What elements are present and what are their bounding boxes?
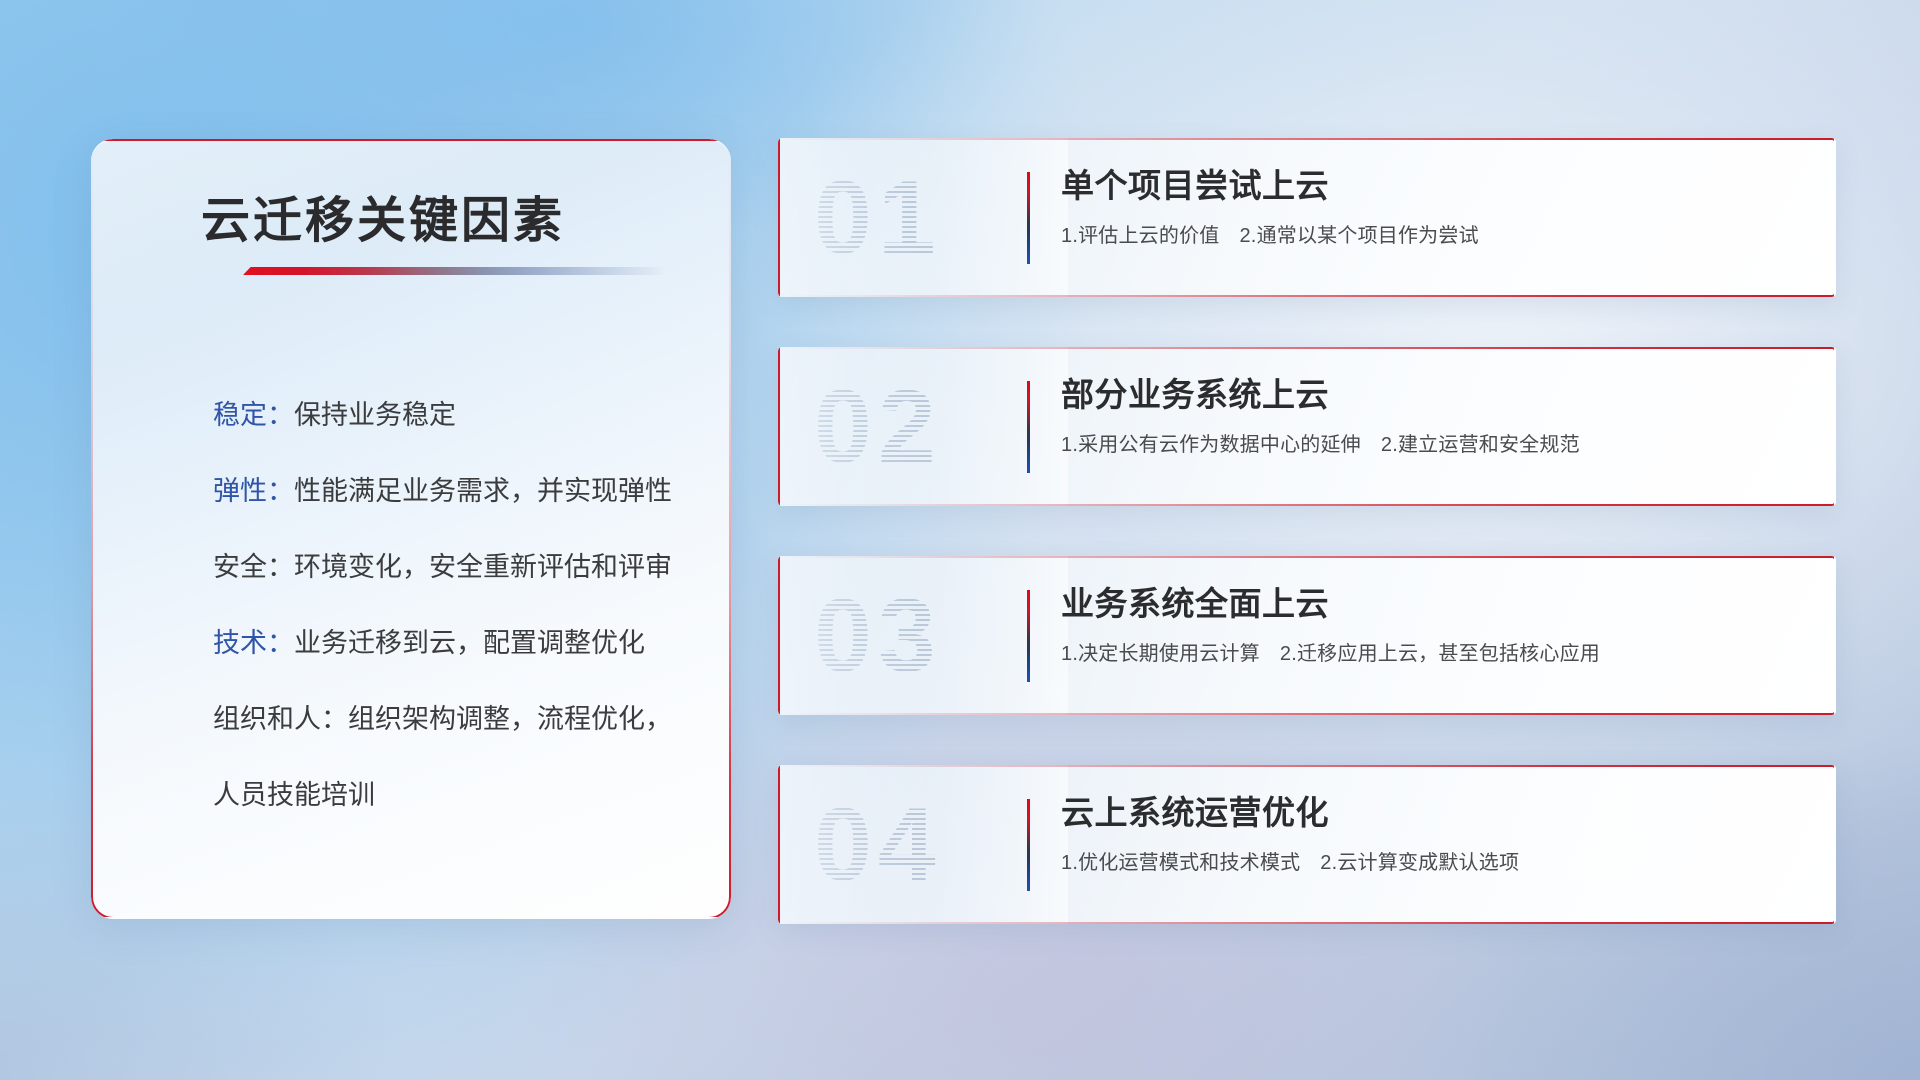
key-factor-row: 稳定：保持业务稳定 (213, 377, 701, 453)
key-factor-value: 性能满足业务需求，并实现弹性 (294, 476, 672, 506)
stage-card[interactable]: 02部分业务系统上云1.采用公有云作为数据中心的延伸2.建立运营和安全规范 (778, 347, 1836, 506)
stage-number: 01 (814, 166, 942, 270)
stage-card[interactable]: 03业务系统全面上云1.决定长期使用云计算2.迁移应用上云，甚至包括核心应用 (778, 556, 1836, 715)
stage-description-item-1: 1.决定长期使用云计算 (1061, 643, 1260, 665)
stage-description-item-1: 1.优化运营模式和技术模式 (1061, 852, 1300, 874)
key-factor-label: 稳定： (213, 400, 294, 430)
stage-divider-bar (1027, 590, 1030, 682)
stage-description-item-1: 1.采用公有云作为数据中心的延伸 (1061, 434, 1361, 456)
key-factor-label: 安全： (213, 552, 294, 582)
stage-card-body: 业务系统全面上云1.决定长期使用云计算2.迁移应用上云，甚至包括核心应用 (1061, 583, 1812, 666)
stage-description: 1.决定长期使用云计算2.迁移应用上云，甚至包括核心应用 (1061, 637, 1812, 666)
key-factor-row: 人员技能培训 (213, 757, 701, 833)
key-factor-value: 人员技能培训 (213, 780, 375, 810)
stage-description-item-2: 2.迁移应用上云，甚至包括核心应用 (1280, 643, 1600, 665)
key-factor-label: 技术： (213, 628, 294, 658)
stage-card[interactable]: 01单个项目尝试上云1.评估上云的价值2.通常以某个项目作为尝试 (778, 138, 1836, 297)
stage-description: 1.评估上云的价值2.通常以某个项目作为尝试 (1061, 219, 1812, 248)
stage-divider-bar (1027, 799, 1030, 891)
panel-title: 云迁移关键因素 (201, 181, 565, 252)
stage-description-item-2: 2.建立运营和安全规范 (1381, 434, 1580, 456)
stage-description-item-2: 2.通常以某个项目作为尝试 (1239, 225, 1478, 247)
stage-divider-bar (1027, 381, 1030, 473)
stage-description: 1.采用公有云作为数据中心的延伸2.建立运营和安全规范 (1061, 428, 1812, 457)
key-factor-value: 组织架构调整，流程优化， (348, 704, 672, 734)
slide-stage: 云迁移关键因素 稳定：保持业务稳定弹性：性能满足业务需求，并实现弹性安全：环境变… (0, 0, 1920, 1080)
key-factor-value: 环境变化，安全重新评估和评审 (294, 552, 672, 582)
stage-divider-bar (1027, 172, 1030, 264)
title-underline-rule (243, 267, 667, 275)
stage-description-item-2: 2.云计算变成默认选项 (1320, 852, 1519, 874)
key-factor-row: 组织和人：组织架构调整，流程优化， (213, 681, 701, 757)
key-factor-row: 技术：业务迁移到云，配置调整优化 (213, 605, 701, 681)
stage-description: 1.优化运营模式和技术模式2.云计算变成默认选项 (1061, 846, 1812, 875)
stage-title: 云上系统运营优化 (1061, 792, 1812, 833)
stage-card-body: 云上系统运营优化1.优化运营模式和技术模式2.云计算变成默认选项 (1061, 792, 1812, 875)
key-factor-value: 业务迁移到云，配置调整优化 (294, 628, 645, 658)
stage-card[interactable]: 04云上系统运营优化1.优化运营模式和技术模式2.云计算变成默认选项 (778, 765, 1836, 924)
stage-description-item-1: 1.评估上云的价值 (1061, 225, 1219, 247)
stage-number: 04 (814, 793, 942, 897)
stage-title: 单个项目尝试上云 (1061, 165, 1812, 206)
key-factor-row: 安全：环境变化，安全重新评估和评审 (213, 529, 701, 605)
key-factors-list: 稳定：保持业务稳定弹性：性能满足业务需求，并实现弹性安全：环境变化，安全重新评估… (213, 377, 701, 833)
stage-card-body: 部分业务系统上云1.采用公有云作为数据中心的延伸2.建立运营和安全规范 (1061, 374, 1812, 457)
key-factor-value: 保持业务稳定 (294, 400, 456, 430)
key-factor-label: 弹性： (213, 476, 294, 506)
stage-card-body: 单个项目尝试上云1.评估上云的价值2.通常以某个项目作为尝试 (1061, 165, 1812, 248)
stage-number: 02 (814, 375, 942, 479)
key-factor-label: 组织和人： (213, 704, 348, 734)
stage-title: 业务系统全面上云 (1061, 583, 1812, 624)
key-factors-panel: 云迁移关键因素 稳定：保持业务稳定弹性：性能满足业务需求，并实现弹性安全：环境变… (91, 139, 731, 919)
cloud-migration-stage-list: 01单个项目尝试上云1.评估上云的价值2.通常以某个项目作为尝试02部分业务系统… (778, 138, 1836, 974)
stage-number: 03 (814, 584, 942, 688)
key-factor-row: 弹性：性能满足业务需求，并实现弹性 (213, 453, 701, 529)
stage-title: 部分业务系统上云 (1061, 374, 1812, 415)
